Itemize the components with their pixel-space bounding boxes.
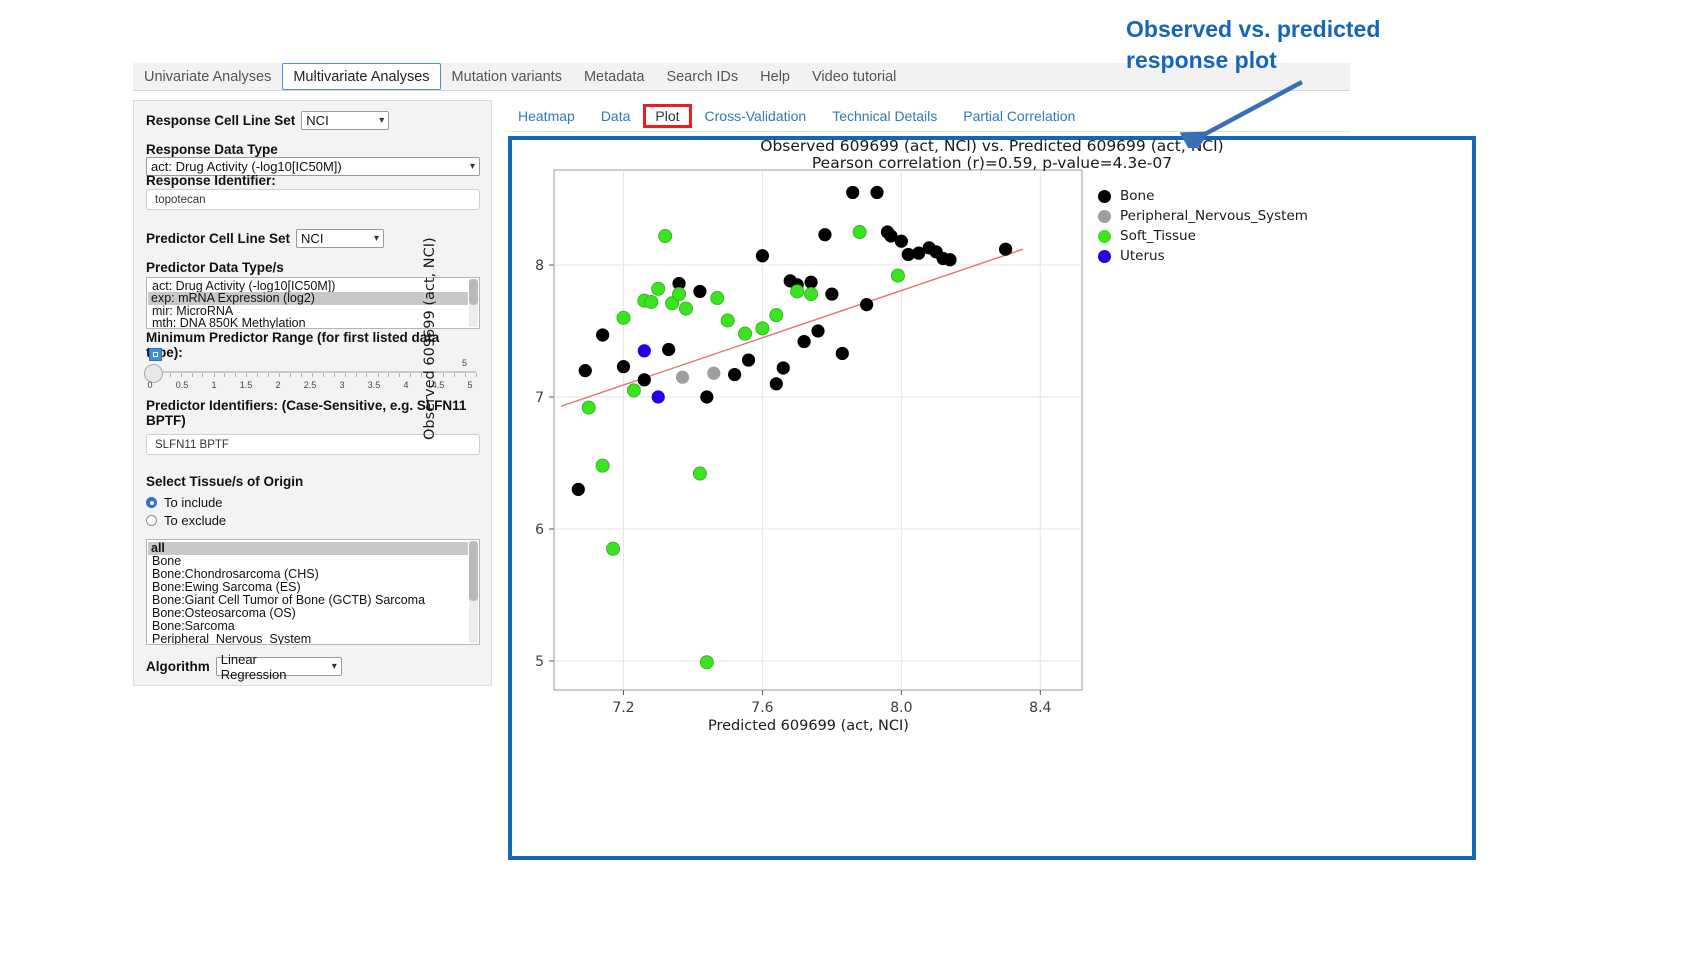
slider-value-flag	[149, 348, 162, 361]
slider-tick-label: 2.5	[304, 380, 317, 390]
predictor-cell-line-set-row: Predictor Cell Line Set NCI ▾	[146, 229, 384, 248]
chevron-down-icon: ▾	[470, 161, 475, 172]
response-data-type-label: Response Data Type	[146, 142, 278, 157]
algorithm-value: Linear Regression	[221, 652, 324, 682]
slider-tick-label: 5	[467, 380, 472, 390]
nav-tab-label: Univariate Analyses	[144, 69, 271, 85]
y-axis-title: Observed 609699 (act, NCI)	[422, 237, 438, 440]
slider-tick-label: 0	[147, 380, 152, 390]
legend-item[interactable]: Peripheral_Nervous_System	[1098, 206, 1308, 226]
slider-tick-label: 3.5	[368, 380, 381, 390]
plot-canvas: 7.27.68.08.45678	[512, 140, 1472, 856]
scrollbar[interactable]	[469, 279, 478, 327]
nav-tab-metadata[interactable]: Metadata	[573, 63, 655, 90]
nav-tab-video-tutorial[interactable]: Video tutorial	[801, 63, 907, 90]
predictor-cell-line-set-select[interactable]: NCI ▾	[296, 229, 384, 248]
response-cell-line-set-label: Response Cell Line Set	[146, 113, 295, 128]
predictor-cell-line-set-value: NCI	[301, 231, 323, 246]
chevron-down-icon: ▾	[374, 233, 379, 244]
legend-label: Bone	[1120, 188, 1154, 204]
tab-cross-validation[interactable]: Cross-Validation	[692, 106, 820, 126]
slider-tick-label: 2	[275, 380, 280, 390]
response-cell-line-set-row: Response Cell Line Set NCI ▾	[146, 111, 389, 130]
scatter-plot-figure: Observed 609699 (act, NCI) vs. Predicted…	[512, 140, 1472, 856]
predictor-identifiers-value: SLFN11 BPTF	[155, 439, 229, 451]
tissue-exclude-radio-row[interactable]: To exclude	[146, 513, 226, 528]
tab-heatmap[interactable]: Heatmap	[505, 106, 588, 126]
legend-item[interactable]: Uterus	[1098, 246, 1308, 266]
list-item[interactable]: Peripheral_Nervous_System	[149, 633, 314, 645]
tissue-section-label: Select Tissue/s of Origin	[146, 474, 303, 489]
tissue-exclude-label: To exclude	[164, 513, 226, 528]
response-cell-line-set-value: NCI	[306, 113, 328, 128]
slider-max-label: 5	[462, 358, 467, 368]
tissue-include-radio-row[interactable]: To include	[146, 495, 223, 510]
list-item[interactable]: Bone:Chondrosarcoma (CHS)	[149, 568, 322, 581]
svg-text:7.2: 7.2	[612, 700, 634, 716]
svg-text:5: 5	[535, 654, 544, 670]
nav-tab-search-ids[interactable]: Search IDs	[655, 63, 749, 90]
slider-tick-label: 1.5	[240, 380, 253, 390]
annotation-text: Observed vs. predicted response plot	[1126, 14, 1456, 76]
annotation-arrow-icon	[1180, 78, 1310, 148]
svg-text:8.0: 8.0	[890, 700, 912, 716]
scrollbar-thumb[interactable]	[469, 279, 478, 305]
chart-legend: BonePeripheral_Nervous_SystemSoft_Tissue…	[1098, 186, 1308, 266]
svg-text:8: 8	[535, 258, 544, 274]
annotation-line-1: Observed vs. predicted	[1126, 14, 1456, 45]
nav-tab-label: Multivariate Analyses	[293, 69, 429, 85]
predictor-cell-line-set-label: Predictor Cell Line Set	[146, 231, 290, 246]
response-cell-line-set-select[interactable]: NCI ▾	[301, 111, 389, 130]
plot-highlight-frame: Observed 609699 (act, NCI) vs. Predicted…	[508, 136, 1476, 860]
annotation-line-2: response plot	[1126, 45, 1456, 76]
response-identifier-value: topotecan	[155, 194, 206, 206]
tissue-include-label: To include	[164, 495, 223, 510]
radio-include-icon[interactable]	[146, 497, 157, 508]
nav-tab-label: Metadata	[584, 69, 644, 85]
slider-tick-label: 1	[211, 380, 216, 390]
tab-partial-correlation[interactable]: Partial Correlation	[950, 106, 1088, 126]
svg-text:7: 7	[535, 390, 544, 406]
list-item[interactable]: Bone:Ewing Sarcoma (ES)	[149, 581, 304, 594]
scrollbar-thumb[interactable]	[469, 541, 478, 601]
list-item[interactable]: Bone:Osteosarcoma (OS)	[149, 607, 299, 620]
chevron-down-icon: ▾	[332, 661, 337, 672]
svg-text:6: 6	[535, 522, 544, 538]
chart-title: Observed 609699 (act, NCI) vs. Predicted…	[512, 137, 1472, 155]
legend-label: Peripheral_Nervous_System	[1120, 208, 1308, 224]
tissue-listbox[interactable]: all Bone Bone:Chondrosarcoma (CHS) Bone:…	[146, 539, 480, 645]
legend-swatch-bone	[1098, 190, 1111, 203]
svg-text:8.4: 8.4	[1029, 700, 1051, 716]
tab-plot[interactable]: Plot	[643, 104, 691, 128]
legend-swatch-soft_tissue	[1098, 230, 1111, 243]
predictor-data-types-label: Predictor Data Type/s	[146, 260, 284, 275]
legend-item[interactable]: Bone	[1098, 186, 1308, 206]
nav-tab-mutation-variants[interactable]: Mutation variants	[441, 63, 573, 90]
list-item[interactable]: mth: DNA 850K Methylation	[149, 317, 309, 329]
slider-tick-label: 0.5	[176, 380, 189, 390]
legend-swatch-peripheral_nervous_system	[1098, 210, 1111, 223]
settings-panel: Response Cell Line Set NCI ▾ Response Da…	[133, 100, 492, 686]
min-predictor-range-label: Minimum Predictor Range (for first liste…	[146, 330, 466, 360]
nav-tab-help[interactable]: Help	[749, 63, 801, 90]
algorithm-label: Algorithm	[146, 659, 210, 674]
slider-tick-label: 3	[339, 380, 344, 390]
list-item[interactable]: exp: mRNA Expression (log2)	[148, 292, 468, 305]
x-axis-title: Predicted 609699 (act, NCI)	[708, 718, 909, 734]
response-identifier-input[interactable]: topotecan	[146, 189, 480, 210]
radio-exclude-icon[interactable]	[146, 515, 157, 526]
response-data-type-value: act: Drug Activity (-log10[IC50M])	[151, 159, 342, 174]
list-item[interactable]: all	[148, 542, 468, 555]
svg-text:7.6: 7.6	[751, 700, 773, 716]
algorithm-select[interactable]: Linear Regression ▾	[216, 657, 342, 676]
nav-tab-label: Mutation variants	[452, 69, 562, 85]
list-item[interactable]: Bone	[149, 555, 184, 568]
chevron-down-icon: ▾	[379, 115, 384, 126]
response-identifier-label: Response Identifier:	[146, 173, 276, 188]
list-item[interactable]: Bone:Sarcoma	[149, 620, 238, 633]
legend-item[interactable]: Soft_Tissue	[1098, 226, 1308, 246]
scrollbar[interactable]	[469, 541, 478, 643]
list-item[interactable]: Bone:Giant Cell Tumor of Bone (GCTB) Sar…	[149, 594, 428, 607]
tab-technical-details[interactable]: Technical Details	[819, 106, 950, 126]
legend-swatch-uterus	[1098, 250, 1111, 263]
legend-label: Uterus	[1120, 248, 1165, 264]
nav-tab-label: Help	[760, 69, 790, 85]
tab-data[interactable]: Data	[588, 106, 644, 126]
slider-tick-label: 4	[403, 380, 408, 390]
nav-tab-label: Video tutorial	[812, 69, 896, 85]
algorithm-row: Algorithm Linear Regression ▾	[146, 657, 342, 676]
nav-tab-univariate-analyses[interactable]: Univariate Analyses	[133, 63, 282, 90]
nav-tab-label: Search IDs	[666, 69, 738, 85]
legend-label: Soft_Tissue	[1120, 228, 1196, 244]
nav-tab-multivariate-analyses[interactable]: Multivariate Analyses	[282, 63, 440, 90]
chart-subtitle: Pearson correlation (r)=0.59, p-value=4.…	[512, 154, 1472, 172]
